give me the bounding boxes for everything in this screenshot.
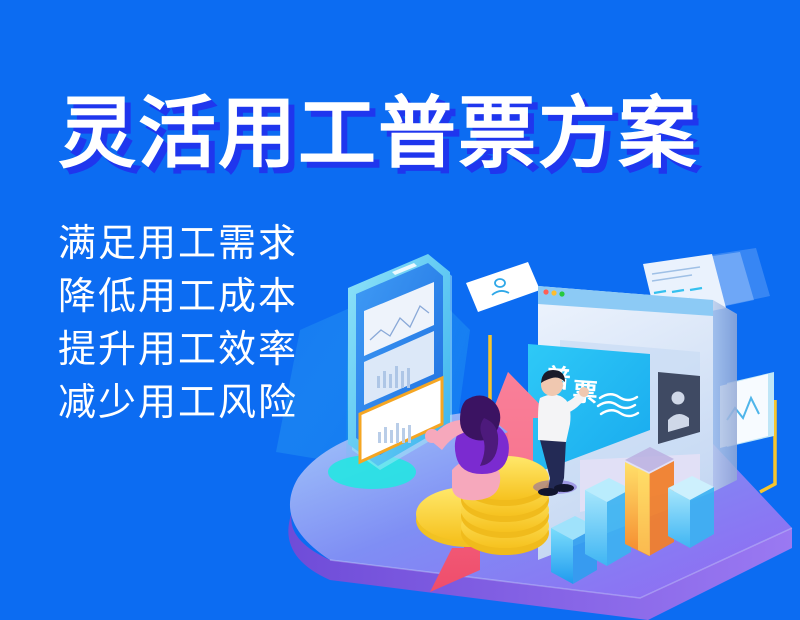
- woman-hand: [425, 429, 439, 443]
- browser-dot-minimize: [551, 290, 556, 295]
- browser-avatar-tile: [658, 372, 700, 444]
- benefit-item-3: 提升用工效率: [58, 324, 298, 377]
- man-shoe-right: [554, 484, 574, 492]
- browser-dot-maximize: [559, 291, 564, 296]
- benefit-item-4: 减少用工风险: [58, 377, 298, 430]
- browser-dot-close: [543, 289, 548, 294]
- page-title: 灵活用工普票方案: [58, 92, 698, 174]
- bar-2: [585, 478, 631, 566]
- bar-4: [668, 476, 714, 548]
- benefit-item-2: 降低用工成本: [58, 271, 298, 324]
- man-hand: [579, 387, 589, 397]
- benefit-item-1: 满足用工需求: [58, 218, 298, 271]
- man-shirt: [538, 394, 571, 442]
- poster-canvas: 普 票: [0, 0, 800, 620]
- benefits-list: 满足用工需求 降低用工成本 提升用工效率 减少用工风险: [58, 218, 298, 430]
